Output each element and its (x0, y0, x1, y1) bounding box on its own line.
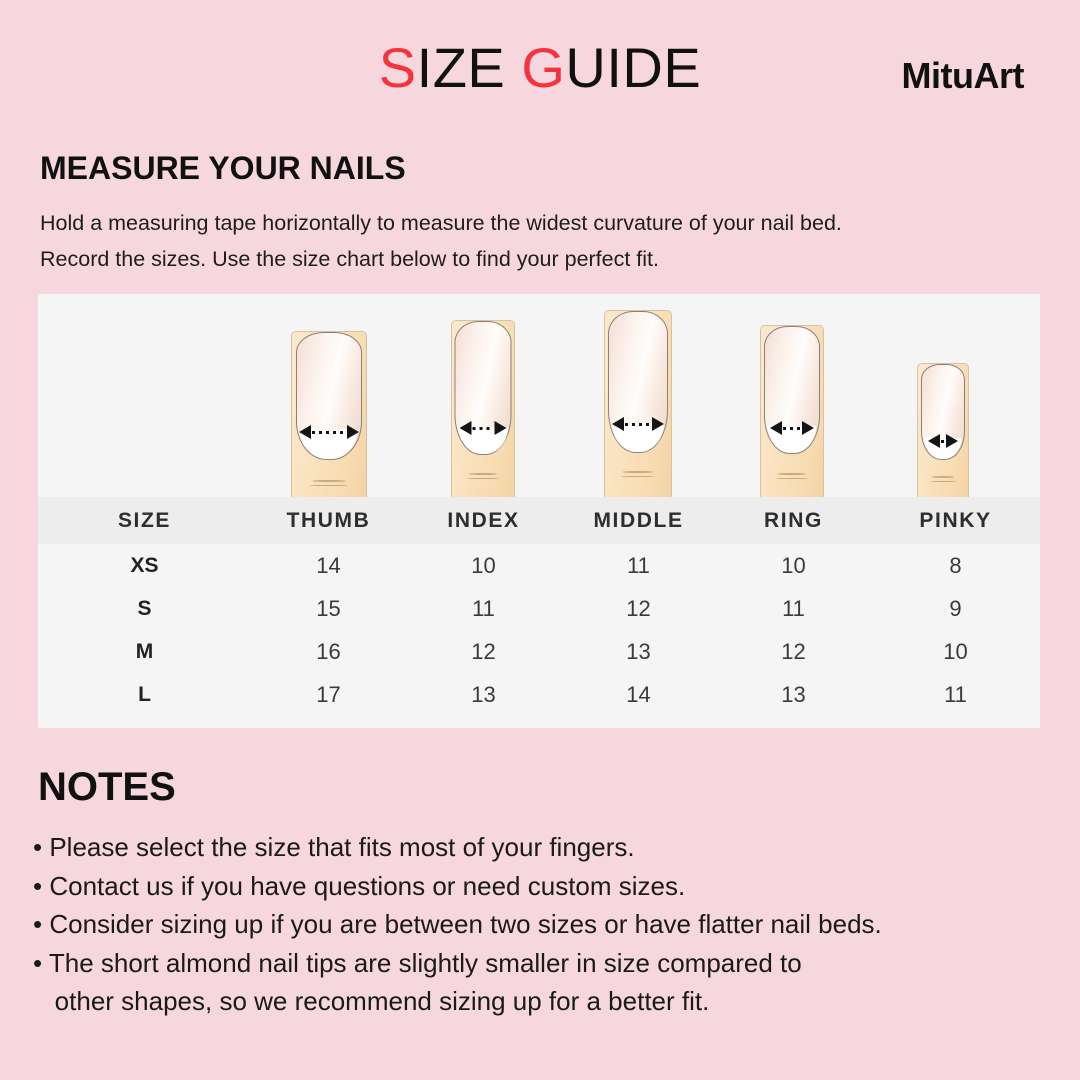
pinky-knuckle-crease (930, 476, 956, 486)
index-measure-arrow (460, 421, 507, 435)
column-header-size: SIZE (38, 497, 251, 544)
title-part-s: S (379, 36, 417, 99)
table-header-row: SIZE THUMB INDEX MIDDLE RING PINKY (38, 497, 1040, 544)
note-item-2: • Contact us if you have questions or ne… (33, 867, 1053, 906)
table-row: XS 14 10 11 10 8 (38, 544, 1040, 587)
ring-measure-arrow (770, 421, 814, 435)
cell-pinky-xs: 8 (871, 544, 1040, 587)
page-header: SIZE GUIDE MituArt (0, 0, 1080, 130)
middle-nail-diagram (563, 310, 713, 497)
notes-list: • Please select the size that fits most … (33, 828, 1053, 1021)
note-item-1: • Please select the size that fits most … (33, 828, 1053, 867)
pinky-nail-diagram (868, 363, 1018, 497)
thumb-nail-diagram (254, 331, 404, 497)
arrow-head-right-icon (802, 421, 814, 435)
nail-illustrations-row (38, 294, 1040, 497)
cell-middle-l: 14 (561, 673, 716, 716)
dotted-measure-line (941, 440, 945, 443)
index-finger-shape (451, 320, 515, 497)
column-header-pinky: PINKY (871, 497, 1040, 544)
column-header-ring: RING (716, 497, 871, 544)
cell-pinky-l: 11 (871, 673, 1040, 716)
cell-middle-xs: 11 (561, 544, 716, 587)
measure-instructions: Hold a measuring tape horizontally to me… (40, 205, 1040, 277)
cell-size-l: L (38, 673, 251, 716)
thumb-knuckle-crease (310, 480, 348, 490)
title-part-ize: IZE (417, 36, 522, 99)
arrow-head-left-icon (612, 417, 624, 431)
cell-ring-s: 11 (716, 587, 871, 630)
notes-heading: NOTES (38, 765, 176, 810)
arrow-head-right-icon (347, 425, 359, 439)
brand-logo: MituArt (902, 55, 1024, 97)
middle-finger-shape (604, 310, 672, 497)
index-knuckle-crease (467, 473, 499, 483)
size-chart-table: SIZE THUMB INDEX MIDDLE RING PINKY XS 14… (38, 497, 1040, 716)
dotted-measure-line (783, 427, 801, 430)
dotted-measure-line (312, 431, 346, 434)
size-chart-panel: SIZE THUMB INDEX MIDDLE RING PINKY XS 14… (38, 294, 1040, 728)
cell-size-xs: XS (38, 544, 251, 587)
title-part-g: G (521, 36, 565, 99)
column-header-middle: MIDDLE (561, 497, 716, 544)
arrow-head-left-icon (460, 421, 472, 435)
cell-index-xs: 10 (406, 544, 561, 587)
dotted-measure-line (625, 423, 651, 426)
arrow-head-right-icon (495, 421, 507, 435)
cell-pinky-m: 10 (871, 630, 1040, 673)
dotted-measure-line (473, 427, 494, 430)
thumb-nail-plate (296, 332, 362, 460)
thumb-measure-arrow (299, 425, 359, 439)
cell-ring-l: 13 (716, 673, 871, 716)
thumb-finger-shape (291, 331, 367, 497)
cell-thumb-m: 16 (251, 630, 406, 673)
arrow-head-right-icon (946, 434, 958, 448)
cell-pinky-s: 9 (871, 587, 1040, 630)
arrow-head-right-icon (652, 417, 664, 431)
cell-index-m: 12 (406, 630, 561, 673)
arrow-head-left-icon (770, 421, 782, 435)
cell-index-l: 13 (406, 673, 561, 716)
cell-thumb-s: 15 (251, 587, 406, 630)
ring-finger-shape (760, 325, 824, 497)
arrow-head-left-icon (928, 434, 940, 448)
ring-knuckle-crease (776, 473, 808, 483)
cell-thumb-xs: 14 (251, 544, 406, 587)
note-item-4-continued: other shapes, so we recommend sizing up … (33, 982, 1053, 1021)
ring-nail-diagram (717, 325, 867, 497)
column-header-thumb: THUMB (251, 497, 406, 544)
cell-index-s: 11 (406, 587, 561, 630)
cell-thumb-l: 17 (251, 673, 406, 716)
table-row: L 17 13 14 13 11 (38, 673, 1040, 716)
pinky-finger-shape (917, 363, 969, 497)
pinky-measure-arrow (928, 434, 958, 448)
cell-middle-m: 13 (561, 630, 716, 673)
cell-ring-m: 12 (716, 630, 871, 673)
measure-instruction-line-2: Record the sizes. Use the size chart bel… (40, 241, 1040, 277)
column-header-index: INDEX (406, 497, 561, 544)
cell-middle-s: 12 (561, 587, 716, 630)
middle-measure-arrow (612, 417, 664, 431)
title-part-uide: UIDE (565, 36, 701, 99)
table-row: S 15 11 12 11 9 (38, 587, 1040, 630)
measure-section-heading: MEASURE YOUR NAILS (40, 150, 406, 187)
arrow-head-left-icon (299, 425, 311, 439)
note-item-4: • The short almond nail tips are slightl… (33, 944, 1053, 983)
index-nail-diagram (408, 320, 558, 497)
middle-knuckle-crease (621, 471, 655, 481)
middle-nail-plate (608, 311, 668, 453)
cell-size-s: S (38, 587, 251, 630)
table-row: M 16 12 13 12 10 (38, 630, 1040, 673)
cell-size-m: M (38, 630, 251, 673)
cell-ring-xs: 10 (716, 544, 871, 587)
note-item-3: • Consider sizing up if you are between … (33, 905, 1053, 944)
measure-instruction-line-1: Hold a measuring tape horizontally to me… (40, 205, 1040, 241)
